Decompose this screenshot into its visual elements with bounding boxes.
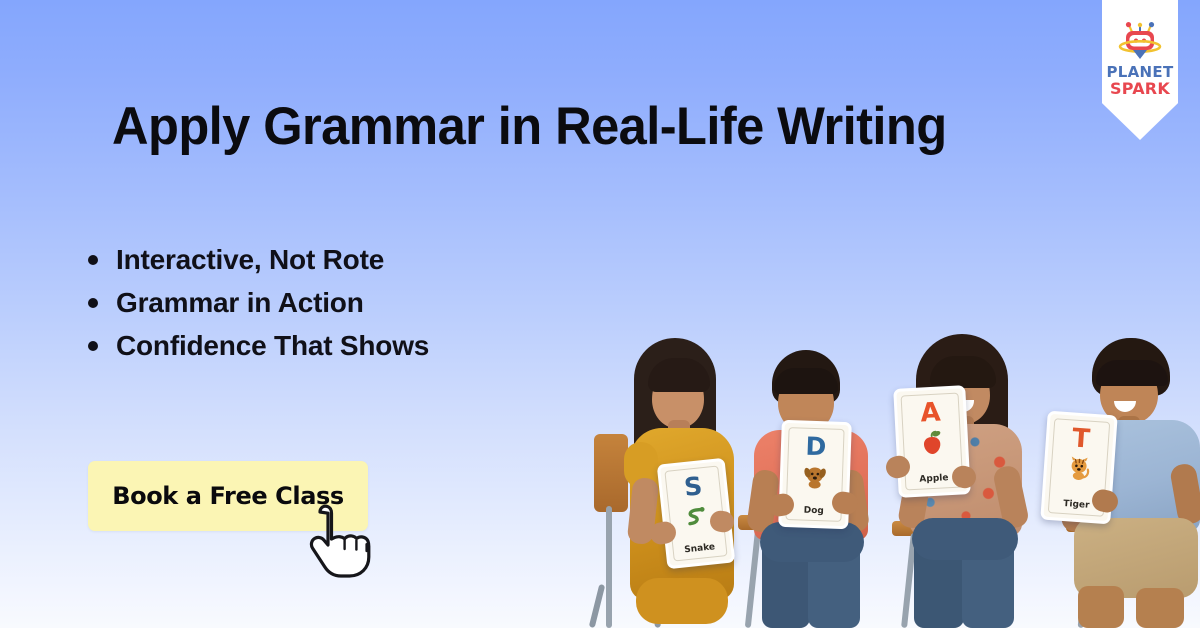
hair-front bbox=[1096, 360, 1168, 386]
child-boy-coral-polo: D Dog bbox=[738, 328, 890, 628]
flashcard-letter: D bbox=[805, 434, 827, 460]
flashcard-letter: A bbox=[920, 400, 941, 427]
cta-label: Book a Free Class bbox=[112, 482, 344, 510]
hair-front bbox=[648, 358, 710, 392]
leg bbox=[1136, 588, 1184, 628]
apple-icon bbox=[918, 429, 946, 461]
disc-bullet-icon bbox=[88, 341, 98, 351]
child-girl-floral-top: A Apple bbox=[886, 326, 1046, 628]
flashcard-letter: S bbox=[683, 473, 704, 500]
list-item: Interactive, Not Rote bbox=[86, 246, 429, 274]
bullet-label: Grammar in Action bbox=[116, 287, 364, 318]
brand-logo[interactable]: PLANET SPARK bbox=[1102, 22, 1178, 122]
snake-icon bbox=[682, 502, 711, 536]
page-title: Apply Grammar in Real-Life Writing bbox=[112, 99, 947, 154]
list-item: Confidence That Shows bbox=[86, 332, 429, 360]
child-boy-blue-tee: T Tiger bbox=[1038, 318, 1200, 628]
disc-bullet-icon bbox=[88, 255, 98, 265]
brand-wordmark: PLANET SPARK bbox=[1107, 65, 1174, 97]
disc-bullet-icon bbox=[88, 298, 98, 308]
book-free-class-button[interactable]: Book a Free Class bbox=[88, 461, 368, 531]
lap bbox=[912, 518, 1018, 560]
flashcard-word: Snake bbox=[668, 542, 731, 557]
feature-bullet-list: Interactive, Not Rote Grammar in Action … bbox=[86, 246, 429, 375]
leg bbox=[636, 578, 728, 624]
bullet-label: Confidence That Shows bbox=[116, 330, 429, 361]
promo-banner-canvas: PLANET SPARK Apply Grammar in Real-Life … bbox=[0, 0, 1200, 628]
children-photo: S Snake bbox=[586, 318, 1200, 628]
dog-icon bbox=[800, 463, 829, 495]
bullet-label: Interactive, Not Rote bbox=[116, 244, 384, 275]
tiger-icon bbox=[1064, 455, 1094, 488]
hair-front bbox=[774, 368, 838, 394]
leg bbox=[1078, 586, 1124, 628]
brand-word-spark: SPARK bbox=[1107, 81, 1174, 97]
list-item: Grammar in Action bbox=[86, 289, 429, 317]
planetspark-robot-icon bbox=[1117, 22, 1163, 62]
hair-front bbox=[930, 356, 996, 388]
flashcard-letter: T bbox=[1071, 425, 1091, 452]
brand-word-planet: PLANET bbox=[1107, 65, 1174, 80]
lap bbox=[760, 522, 864, 562]
child-girl-yellow-dress: S Snake bbox=[606, 336, 756, 628]
